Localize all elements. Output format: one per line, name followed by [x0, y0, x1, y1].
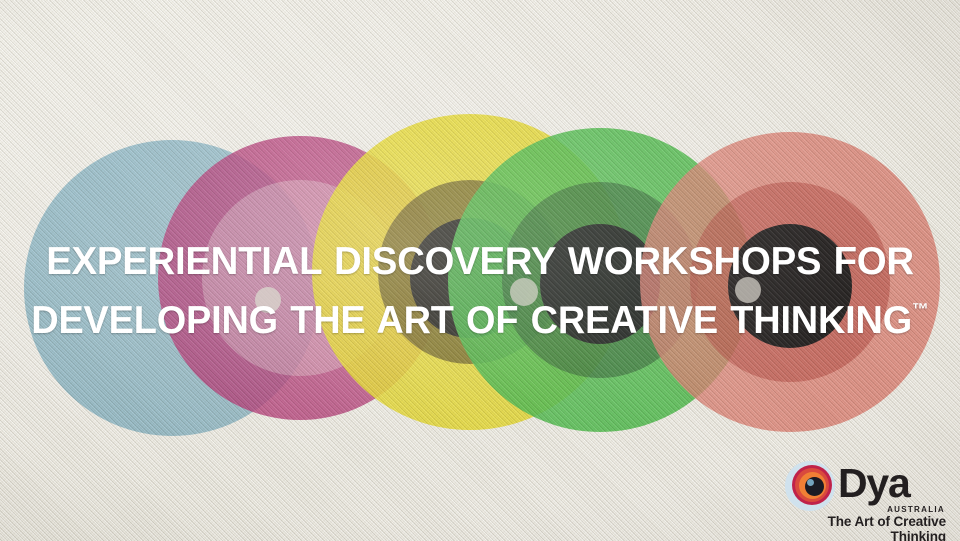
logo-wordmark: Dya [838, 463, 910, 503]
concentric-circles-icon [783, 457, 841, 513]
promotional-banner: EXPERIENTIAL DISCOVERY WORKSHOPS FOR DEV… [0, 0, 960, 541]
logo-glint [807, 479, 814, 486]
dya-logo[interactable]: Dya AUSTRALIA The Art of Creative Thinki… [783, 457, 948, 535]
logo-top-row: Dya AUSTRALIA [783, 457, 948, 513]
logo-tagline: The Art of Creative Thinking [783, 514, 948, 541]
logo-country-label: AUSTRALIA [887, 505, 945, 514]
